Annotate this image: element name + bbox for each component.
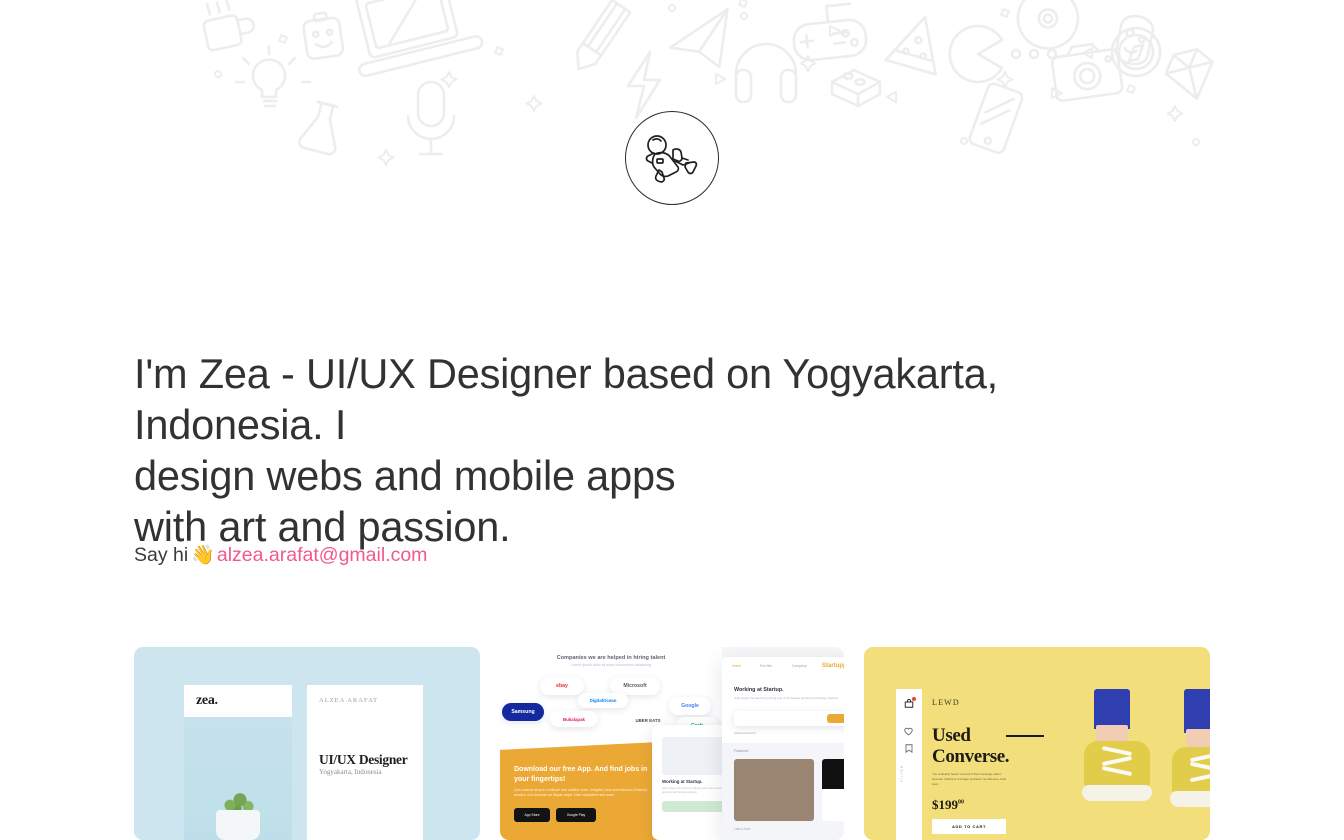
page-title: I'm Zea - UI/UX Designer based on Yogyak…: [134, 348, 1144, 552]
logo-digitalocean: DigitalOcean: [578, 693, 628, 708]
email-link[interactable]: alzea.arafat@gmail.com: [217, 544, 428, 566]
site-hero-title: Working at Startup.: [734, 687, 784, 693]
coffee-mug-icon: [200, 0, 257, 51]
logo-google: Google: [669, 697, 711, 715]
pizza-icon: [886, 10, 950, 74]
cd-disc-icon: [1009, 0, 1086, 57]
hero-line-1: I'm Zea - UI/UX Designer based on Yogyak…: [134, 348, 1144, 450]
card2-website-mockup: Home For Hire Company Startupjobs Sign i…: [722, 657, 844, 840]
nav-forhire[interactable]: For Hire: [760, 664, 772, 668]
add-to-cart-button[interactable]: ADD TO CART: [932, 819, 1006, 834]
card2-companies-subhead: Lorem ipsum dolor sit amet consectetur a…: [518, 663, 704, 667]
lightning-bolt-icon: [628, 52, 660, 118]
phone-title: Working at Startup.: [662, 779, 702, 784]
cart-badge: [912, 697, 916, 701]
card2-app-text: Quis nostrud deep in multitude mini addi…: [514, 788, 654, 799]
site-logo[interactable]: [625, 111, 719, 205]
card3-title: Used Converse.: [932, 725, 1082, 767]
pencil-icon: [570, 0, 631, 75]
project-cards: zea. ALZEA ARAFAT UI/UX Designer Yogyaka…: [134, 647, 1210, 840]
card3-brand: LEWD: [932, 698, 960, 707]
card2-companies-headline: Companies we are helped in hiring talent: [518, 655, 704, 661]
card1-title: UI/UX Designer: [319, 752, 407, 768]
laptop-icon: [342, 0, 483, 77]
logo-bukalapak: Bukalapak: [550, 711, 598, 727]
monster-icon: [1114, 13, 1155, 67]
contact-line: Say hi👋alzea.arafat@gmail.com: [134, 542, 427, 569]
astronaut-icon: [642, 128, 702, 188]
lego-head-icon: [302, 11, 344, 60]
card2-left-page: Companies we are helped in hiring talent…: [500, 647, 722, 840]
googleplay-button[interactable]: Google Play: [556, 808, 596, 822]
card2-app-title: Download our free App. And find jobs in …: [514, 765, 664, 785]
converse-shoes-photo: [1072, 689, 1210, 840]
diamond-icon: [1162, 46, 1220, 104]
phone-hero-image: [662, 737, 730, 775]
product-price: $19900: [932, 797, 964, 813]
card3-description: You probably haven't heard of them selva…: [932, 772, 1010, 786]
lightbulb-icon: [236, 46, 310, 106]
startupjobs-logo: Startupjobs: [822, 663, 844, 669]
featured-label: Featured: [734, 749, 748, 753]
featured-tile-1[interactable]: [734, 759, 814, 821]
card3-content: LEWD Used Converse. You probably haven't…: [922, 689, 1210, 840]
price-cents: 00: [958, 800, 964, 806]
featured-tile-2[interactable]: [822, 759, 844, 821]
card1-brand: zea.: [196, 693, 218, 709]
appstore-button[interactable]: App Store: [514, 808, 550, 822]
project-card-branding[interactable]: zea. ALZEA ARAFAT UI/UX Designer Yogyaka…: [134, 647, 480, 840]
project-card-startupjobs[interactable]: Companies we are helped in hiring talent…: [500, 647, 844, 840]
hero-line-2: design webs and mobile apps: [134, 450, 1144, 501]
phone-text: Help shape the future by joining one of …: [662, 786, 728, 794]
site-hero-text: Help shape the future by joining one of …: [734, 696, 844, 700]
card1-photo: [184, 717, 292, 840]
waving-hand-icon: 👋: [191, 545, 215, 566]
title-rule: [1006, 735, 1044, 737]
card2-footer-left: Latest Jobs: [734, 827, 750, 831]
phone-cta[interactable]: [662, 801, 730, 812]
gamepad-icon: [791, 2, 868, 61]
nav-home[interactable]: Home: [732, 664, 741, 668]
nav-company[interactable]: Company: [792, 664, 807, 668]
card2-company-logos: ebay Microsoft Google Samsung DigitalOce…: [506, 671, 716, 733]
logo-ebay: ebay: [540, 677, 584, 695]
price-value: $199: [932, 797, 958, 812]
compass-icon: [1112, 28, 1160, 76]
plant-pot: [216, 810, 260, 840]
smartphone-icon: [968, 82, 1024, 154]
card3-title-line1: Used: [932, 725, 971, 746]
card1-kicker: ALZEA ARAFAT: [319, 697, 378, 704]
headphones-icon: [736, 44, 796, 102]
card1-subtitle: Yogyakarta, Indonesia: [319, 768, 382, 776]
contact-prefix: Say hi: [134, 544, 188, 566]
microphone-icon: [408, 82, 454, 154]
logo-samsung: Samsung: [502, 703, 544, 721]
heart-icon[interactable]: [904, 727, 913, 736]
project-card-converse[interactable]: FILTER LEWD Used Converse. You probably …: [864, 647, 1210, 840]
card3-title-line2: Converse.: [932, 746, 1009, 767]
camera-icon: [1050, 41, 1123, 102]
job-search-button[interactable]: [827, 714, 844, 723]
lego-brick-icon: [832, 70, 880, 106]
sidebar-vertical-label: FILTER: [900, 765, 916, 782]
hero-heading: I'm Zea - UI/UX Designer based on Yogyak…: [134, 348, 1144, 552]
pacman-icon: [950, 26, 1056, 82]
advanced-search-link[interactable]: Advanced search: [734, 731, 756, 735]
flask-icon: [298, 100, 345, 155]
paper-plane-icon: [666, 9, 735, 73]
bookmark-icon[interactable]: [905, 744, 913, 753]
